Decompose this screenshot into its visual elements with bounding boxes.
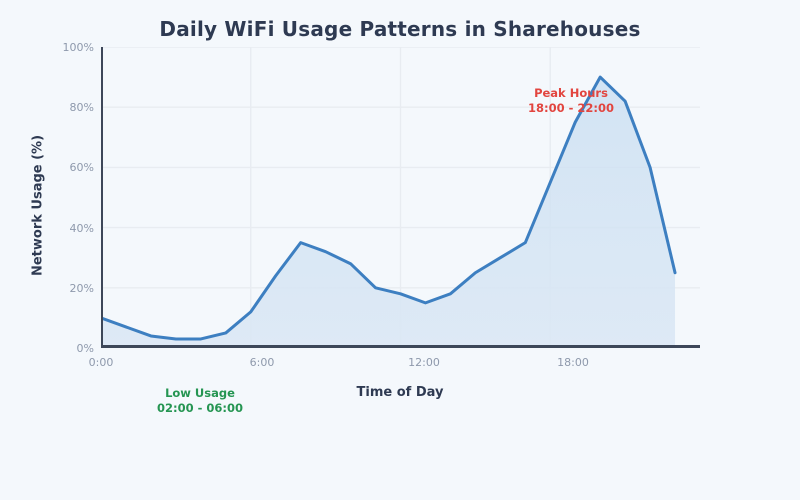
- annotation-peak-hours-title: Peak Hours: [534, 86, 608, 100]
- annotation-low-usage-range: 02:00 - 06:00: [157, 401, 243, 416]
- usage-area-fill: [101, 77, 675, 348]
- chart-title: Daily WiFi Usage Patterns in Sharehouses: [0, 17, 800, 41]
- y-tick-label: 80%: [70, 102, 94, 113]
- y-tick-label: 100%: [63, 42, 94, 53]
- chart-root: Daily WiFi Usage Patterns in Sharehouses…: [0, 0, 800, 500]
- y-axis-label: Network Usage (%): [31, 106, 46, 306]
- y-tick-label: 60%: [70, 162, 94, 173]
- x-tick-label: 6:00: [250, 357, 275, 369]
- y-tick-label: 40%: [70, 223, 94, 234]
- x-axis-label: Time of Day: [0, 385, 800, 400]
- x-tick-label: 0:00: [89, 357, 114, 369]
- annotation-low-usage: Low Usage 02:00 - 06:00: [157, 386, 243, 416]
- annotation-low-usage-title: Low Usage: [165, 386, 235, 400]
- x-tick-label: 12:00: [408, 357, 440, 369]
- y-tick-label: 0%: [77, 343, 94, 354]
- annotation-peak-hours-range: 18:00 - 22:00: [528, 101, 614, 116]
- x-tick-label: 18:00: [557, 357, 589, 369]
- y-tick-label: 20%: [70, 283, 94, 294]
- annotation-peak-hours: Peak Hours 18:00 - 22:00: [528, 86, 614, 116]
